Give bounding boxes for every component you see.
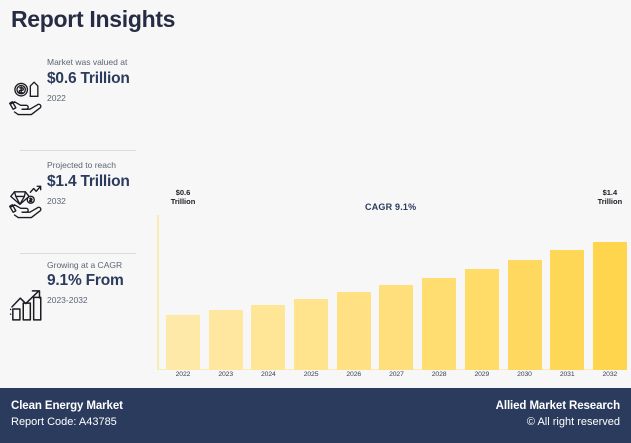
insight-caption: Growing at a CAGR xyxy=(47,254,143,271)
bar xyxy=(422,278,456,371)
chart-x-axis-labels: 2022202320242025202620272028202920302031… xyxy=(166,371,627,378)
bar xyxy=(166,315,200,370)
x-axis-tick-label: 2028 xyxy=(422,371,456,378)
chart-y-axis-line xyxy=(157,215,159,370)
x-axis-tick-label: 2025 xyxy=(294,371,328,378)
bar-column: $0.6Trillion xyxy=(166,210,200,370)
x-axis-tick-label: 2026 xyxy=(337,371,371,378)
x-axis-tick-label: 2022 xyxy=(166,371,200,378)
insight-value: $1.4 Trillion xyxy=(47,171,150,192)
bar xyxy=(379,285,413,370)
insight-caption: Market was valued at xyxy=(47,48,143,68)
bar-column xyxy=(209,210,243,370)
footer-rights: © All right reserved xyxy=(496,414,620,431)
footer-right: Allied Market Research © All right reser… xyxy=(496,398,620,431)
x-axis-tick-label: 2031 xyxy=(550,371,584,378)
insight-value: $0.6 Trillion xyxy=(47,68,150,89)
insight-year: 2022 xyxy=(47,89,150,103)
x-axis-tick-label: 2027 xyxy=(379,371,413,378)
insights-column: Market was valued at $0.6 Trillion 2022 … xyxy=(0,48,150,378)
x-axis-tick-label: 2029 xyxy=(465,371,499,378)
x-axis-tick-label: 2032 xyxy=(593,371,627,378)
insight-card-projection: Projected to reach $1.4 Trillion 2032 xyxy=(0,151,150,254)
chart-bars: $0.6Trillion$1.4Trillion xyxy=(166,210,627,370)
hand-diamond-value-icon xyxy=(7,181,47,221)
x-axis-tick-label: 2030 xyxy=(508,371,542,378)
x-axis-tick-label: 2024 xyxy=(251,371,285,378)
bar xyxy=(593,242,627,370)
insight-caption: Projected to reach xyxy=(47,151,143,171)
bar-column xyxy=(294,210,328,370)
x-axis-tick-label: 2023 xyxy=(209,371,243,378)
bar-column xyxy=(422,210,456,370)
bar-value-label: $0.6Trillion xyxy=(171,188,196,206)
bar-column xyxy=(465,210,499,370)
bar-column: $1.4Trillion xyxy=(593,210,627,370)
bar-column xyxy=(550,210,584,370)
hand-money-growth-icon xyxy=(7,78,47,118)
page-title: Report Insights xyxy=(11,6,175,33)
bar-column xyxy=(337,210,371,370)
bar xyxy=(465,269,499,370)
footer-company: Allied Market Research xyxy=(496,398,620,414)
footer-market-name: Clean Energy Market xyxy=(11,398,123,414)
bar xyxy=(251,305,285,370)
bar xyxy=(209,310,243,370)
footer-left: Clean Energy Market Report Code: A43785 xyxy=(11,398,123,431)
insight-value: 9.1% From xyxy=(47,271,150,291)
bar xyxy=(550,250,584,370)
insight-card-market-value: Market was valued at $0.6 Trillion 2022 xyxy=(0,48,150,151)
bar xyxy=(508,260,542,370)
bar-chart-growth-arrow-icon xyxy=(7,284,47,324)
bar-column xyxy=(379,210,413,370)
insight-year: 2023-2032 xyxy=(47,291,150,305)
bar-column xyxy=(251,210,285,370)
insight-year: 2032 xyxy=(47,192,150,206)
bar xyxy=(337,292,371,370)
bar xyxy=(294,299,328,370)
bar-value-label: $1.4Trillion xyxy=(598,188,623,206)
footer-bar: Clean Energy Market Report Code: A43785 … xyxy=(0,388,631,443)
insight-card-cagr: Growing at a CAGR 9.1% From 2023-2032 xyxy=(0,254,150,357)
market-forecast-bar-chart: CAGR 9.1% $0.6Trillion$1.4Trillion 20222… xyxy=(150,190,631,385)
footer-report-code: Report Code: A43785 xyxy=(11,414,123,431)
bar-column xyxy=(508,210,542,370)
